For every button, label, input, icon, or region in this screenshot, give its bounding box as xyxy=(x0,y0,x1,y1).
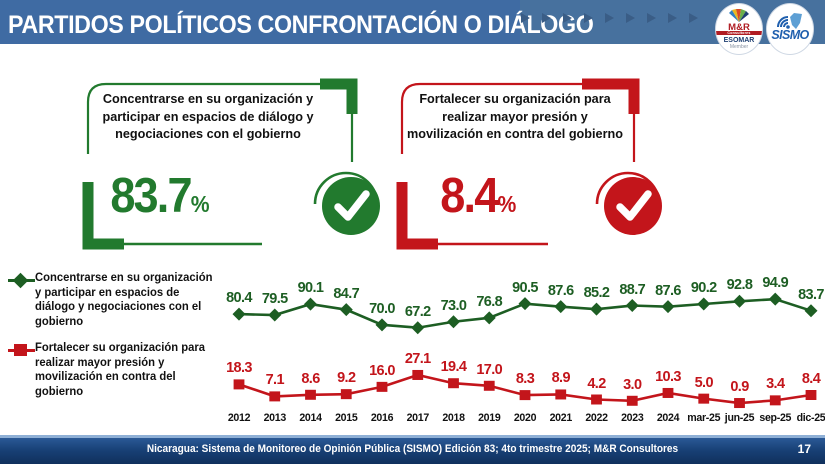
panel-dialogo-value-wrap: 83.7% xyxy=(110,172,209,229)
chart-value-label-dialogo: 83.7 xyxy=(789,287,825,303)
page-header: PARTIDOS POLÍTICOS CONFRONTACIÓN O DIÁLO… xyxy=(0,0,825,57)
legend-marker-diamond-icon xyxy=(8,273,35,287)
panel-presion-symbol: % xyxy=(497,191,516,217)
presion-point xyxy=(448,378,459,388)
triangle-icon xyxy=(563,13,572,23)
page-footer: Nicaragua: Sistema de Monitoreo de Opini… xyxy=(0,435,825,464)
footer-divider xyxy=(0,435,825,438)
dialogo-point xyxy=(518,297,531,310)
triangle-icon xyxy=(584,13,593,23)
panel-dialogo-text: Concentrarse en su organización y partic… xyxy=(95,90,322,143)
triangle-icon xyxy=(626,13,635,23)
sismo-logo-name: SISMO xyxy=(767,28,813,42)
panel-dialogo-symbol: % xyxy=(191,191,210,217)
presion-point xyxy=(520,390,531,400)
presion-point xyxy=(412,370,423,380)
chart-value-label-presion: 8.4 xyxy=(789,371,825,387)
presion-point xyxy=(234,379,245,389)
mr-logo-tag: Consultores xyxy=(716,31,762,35)
presion-point xyxy=(734,398,745,408)
presion-point xyxy=(555,389,566,399)
dialogo-point xyxy=(769,293,782,306)
footer-page-number: 17 xyxy=(798,442,811,456)
header-band: PARTIDOS POLÍTICOS CONFRONTACIÓN O DIÁLO… xyxy=(0,0,825,44)
dialogo-point xyxy=(340,303,353,316)
presion-point xyxy=(770,395,781,405)
dialogo-point xyxy=(232,308,245,321)
dialogo-point xyxy=(554,300,567,313)
presion-point xyxy=(698,394,709,404)
legend-marker-square-icon xyxy=(8,343,35,357)
dialogo-point xyxy=(304,298,317,311)
trend-chart: Concentrarse en su organización y partic… xyxy=(0,262,825,434)
legend-item-dialogo: Concentrarse en su organización y partic… xyxy=(8,271,223,329)
dialogo-point xyxy=(804,304,817,317)
chart-value-label-dialogo: 84.7 xyxy=(324,286,368,302)
check-circle-icon-red xyxy=(585,156,671,242)
panel-presion-text: Fortalecer su organización para realizar… xyxy=(405,90,626,143)
presion-point xyxy=(663,388,674,398)
triangle-icon xyxy=(689,13,698,23)
dialogo-point xyxy=(733,295,746,308)
triangle-icon xyxy=(668,13,677,23)
legend-label-dialogo: Concentrarse en su organización y partic… xyxy=(35,271,217,329)
dialogo-point xyxy=(697,297,710,310)
presion-point xyxy=(591,395,602,405)
dialogo-point xyxy=(268,309,281,322)
check-circle-icon-green xyxy=(303,156,389,242)
triangle-icon xyxy=(542,13,551,23)
presion-point xyxy=(627,396,638,406)
presion-point xyxy=(269,391,280,401)
footer-source: Nicaragua: Sistema de Monitoreo de Opini… xyxy=(21,443,805,455)
panel-dialogo-value: 83.7 xyxy=(110,169,190,223)
mr-logo-esomar: ESOMAR xyxy=(716,37,762,44)
legend-item-presion: Fortalecer su organización para realizar… xyxy=(8,341,223,399)
dialogo-point xyxy=(626,299,639,312)
triangle-icon xyxy=(521,13,530,23)
dialogo-point xyxy=(447,315,460,328)
sismo-logo: SISMO xyxy=(766,3,814,55)
mr-logo-member: Member xyxy=(716,44,762,50)
chart-x-axis-label: dic-25 xyxy=(787,412,825,424)
presion-point xyxy=(305,390,316,400)
panel-presion-value-wrap: 8.4% xyxy=(440,172,516,229)
dialogo-point xyxy=(375,318,388,331)
triangle-decoration-row xyxy=(521,8,698,28)
chart-value-label-dialogo: 76.8 xyxy=(467,294,511,310)
panel-presion-value: 8.4 xyxy=(440,169,497,223)
presion-point xyxy=(806,390,817,400)
dialogo-point xyxy=(483,311,496,324)
presion-point xyxy=(377,382,388,392)
triangle-icon xyxy=(605,13,614,23)
dialogo-point xyxy=(661,300,674,313)
dialogo-point xyxy=(590,303,603,316)
fan-icon xyxy=(727,9,751,23)
mr-consultores-logo: M&R Consultores ESOMAR Member xyxy=(715,3,763,55)
triangle-icon xyxy=(647,13,656,23)
dialogo-point xyxy=(411,321,424,334)
legend-label-presion: Fortalecer su organización para realizar… xyxy=(35,341,217,399)
presion-point xyxy=(484,381,495,391)
page-title: PARTIDOS POLÍTICOS CONFRONTACIÓN O DIÁLO… xyxy=(8,10,482,42)
presion-point xyxy=(341,389,352,399)
